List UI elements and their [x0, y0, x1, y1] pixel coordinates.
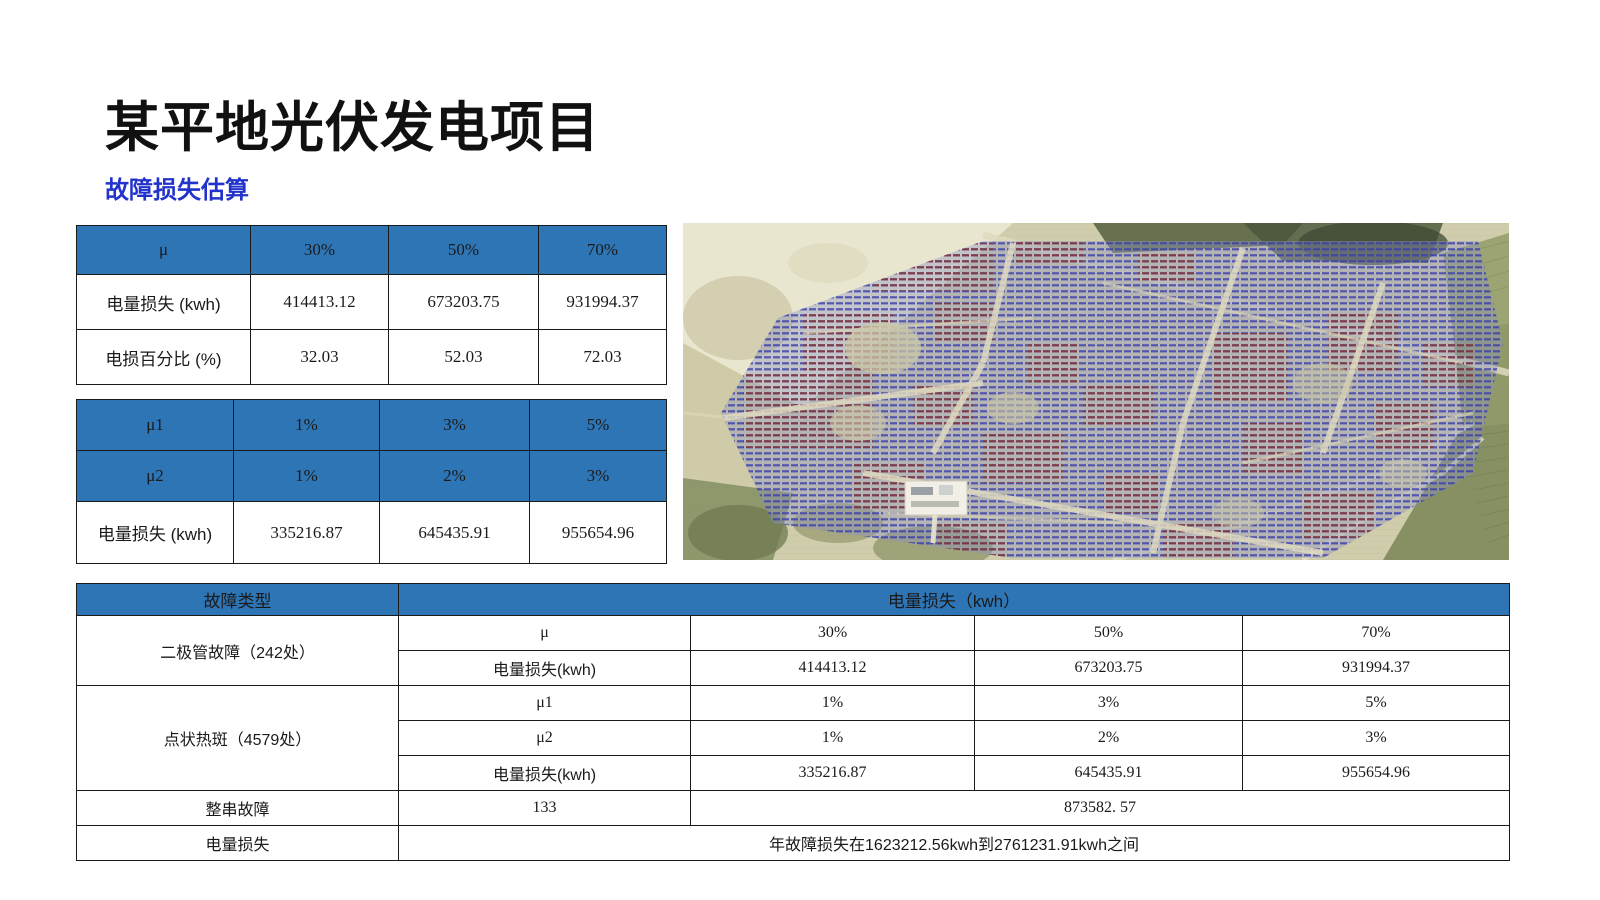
main-group1-row0-col2: 5% — [1243, 686, 1510, 721]
main-group1-row2-param: 电量损失(kwh) — [399, 756, 691, 791]
main-group0-row0-col1: 50% — [975, 616, 1243, 651]
table-one-row1-col1: 52.03 — [389, 330, 539, 385]
table-row: 电损百分比 (%) 32.03 52.03 72.03 — [77, 330, 667, 385]
table-row: μ1 1% 3% 5% — [77, 400, 667, 451]
main-group1-row1-col1: 2% — [975, 721, 1243, 756]
table-one-header-mu: μ — [77, 226, 251, 275]
table-two-row0-col0: 335216.87 — [234, 502, 380, 564]
main-group0-row1-col1: 673203.75 — [975, 651, 1243, 686]
diode-fault-loss-table: μ 30% 50% 70% 电量损失 (kwh) 414413.12 67320… — [76, 225, 667, 385]
main-total-statement: 年故障损失在1623212.56kwh到2761231.91kwh之间 — [399, 826, 1510, 861]
table-one-row1-col2: 72.03 — [539, 330, 667, 385]
table-one-header-30: 30% — [251, 226, 389, 275]
table-two-mu1-col2: 5% — [530, 400, 667, 451]
table-row: 故障类型 电量损失（kwh） — [77, 584, 1510, 616]
table-one-row1-label: 电损百分比 (%) — [77, 330, 251, 385]
main-group0-row1-col2: 931994.37 — [1243, 651, 1510, 686]
substation-building — [905, 481, 967, 515]
table-two-mu2-col1: 2% — [380, 451, 530, 502]
table-row: 电量损失 (kwh) 414413.12 673203.75 931994.37 — [77, 275, 667, 330]
table-row: 整串故障 133 873582. 57 — [77, 791, 1510, 826]
main-group1-row2-col1: 645435.91 — [975, 756, 1243, 791]
main-group1-row1-col0: 1% — [691, 721, 975, 756]
main-group0-row0-param: μ — [399, 616, 691, 651]
table-row: 点状热斑（4579处） μ1 1% 3% 5% — [77, 686, 1510, 721]
table-two-header-mu2: μ2 — [77, 451, 234, 502]
main-group0-row1-param: 电量损失(kwh) — [399, 651, 691, 686]
table-row: μ 30% 50% 70% — [77, 226, 667, 275]
page-subtitle: 故障损失估算 — [105, 170, 1005, 205]
main-string-fault-count: 133 — [399, 791, 691, 826]
table-one-row0-col0: 414413.12 — [251, 275, 389, 330]
main-group1-row0-param: μ1 — [399, 686, 691, 721]
main-group1-type: 点状热斑（4579处） — [77, 686, 399, 791]
table-row: μ2 1% 2% 3% — [77, 451, 667, 502]
table-two-mu2-col0: 1% — [234, 451, 380, 502]
table-one-header-70: 70% — [539, 226, 667, 275]
fault-summary-table: 故障类型 电量损失（kwh） 二极管故障（242处） μ 30% 50% 70%… — [76, 583, 1510, 861]
heading-block: 某平地光伏发电项目 故障损失估算 — [105, 100, 1005, 205]
table-two-row0-col2: 955654.96 — [530, 502, 667, 564]
main-string-fault-loss: 873582. 57 — [691, 791, 1510, 826]
hotspot-loss-table: μ1 1% 3% 5% μ2 1% 2% 3% 电量损失 (kwh) 33521… — [76, 399, 667, 564]
main-group0-row1-col0: 414413.12 — [691, 651, 975, 686]
main-string-fault-type: 整串故障 — [77, 791, 399, 826]
main-group1-row2-col0: 335216.87 — [691, 756, 975, 791]
main-group1-row2-col2: 955654.96 — [1243, 756, 1510, 791]
main-group0-type: 二极管故障（242处） — [77, 616, 399, 686]
table-two-header-mu1: μ1 — [77, 400, 234, 451]
table-one-row0-label: 电量损失 (kwh) — [77, 275, 251, 330]
page-title: 某平地光伏发电项目 — [105, 100, 1005, 157]
main-total-type: 电量损失 — [77, 826, 399, 861]
solar-farm-aerial-photo — [683, 223, 1509, 560]
table-two-mu1-col1: 3% — [380, 400, 530, 451]
table-one-header-50: 50% — [389, 226, 539, 275]
main-header-fault-type: 故障类型 — [77, 584, 399, 616]
table-two-row0-col1: 645435.91 — [380, 502, 530, 564]
main-group1-row0-col0: 1% — [691, 686, 975, 721]
main-group1-row1-col2: 3% — [1243, 721, 1510, 756]
table-two-row0-label: 电量损失 (kwh) — [77, 502, 234, 564]
table-one-row0-col2: 931994.37 — [539, 275, 667, 330]
main-header-power-loss: 电量损失（kwh） — [399, 584, 1510, 616]
aerial-photo-svg — [683, 223, 1509, 560]
main-group0-row0-col2: 70% — [1243, 616, 1510, 651]
table-two-mu1-col0: 1% — [234, 400, 380, 451]
main-group1-row0-col1: 3% — [975, 686, 1243, 721]
table-row: 电量损失 年故障损失在1623212.56kwh到2761231.91kwh之间 — [77, 826, 1510, 861]
main-group1-row1-param: μ2 — [399, 721, 691, 756]
main-group0-row0-col0: 30% — [691, 616, 975, 651]
table-row: 二极管故障（242处） μ 30% 50% 70% — [77, 616, 1510, 651]
table-one-row1-col0: 32.03 — [251, 330, 389, 385]
table-one-row0-col1: 673203.75 — [389, 275, 539, 330]
table-row: 电量损失 (kwh) 335216.87 645435.91 955654.96 — [77, 502, 667, 564]
table-two-mu2-col2: 3% — [530, 451, 667, 502]
